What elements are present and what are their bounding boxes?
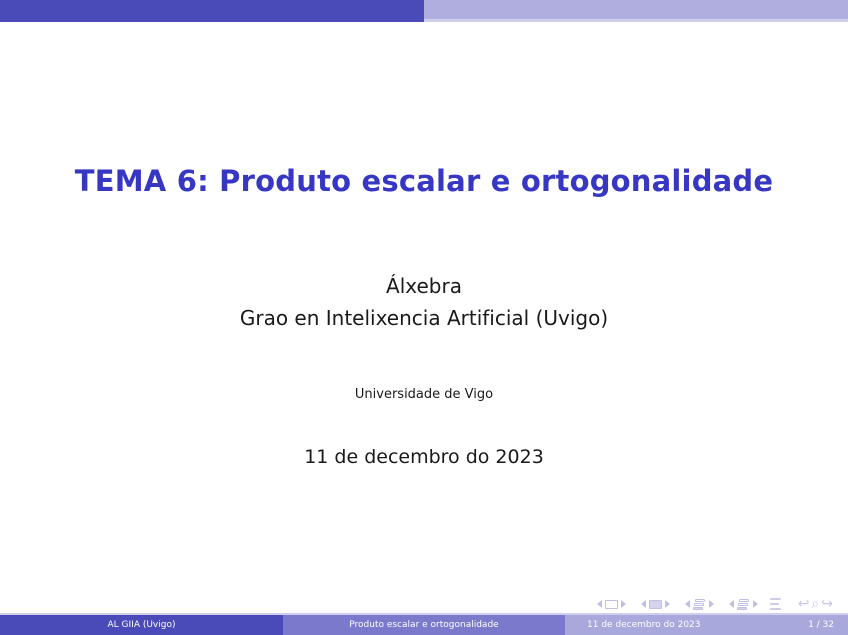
navigation-symbols[interactable]: ↩ ⌕ ↪ [594,596,834,612]
search-nav-icon[interactable]: ⌕ [811,597,819,611]
author-line-degree: Grao en Intelixencia Artificial (Uvigo) [0,302,848,334]
frame-nav-group[interactable] [638,600,673,609]
subsection-nav-icon[interactable] [693,599,706,610]
footline-date: 11 de decembro do 2023 [587,620,701,630]
author-block: Álxebra Grao en Intelixencia Artificial … [0,270,848,334]
previous-slide-icon[interactable] [597,600,602,608]
forward-nav-icon[interactable]: ↪ [821,597,833,611]
section-nav-group[interactable] [726,599,761,610]
previous-subsection-icon[interactable] [685,600,690,608]
page-title: TEMA 6: Produto escalar e ortogonalidade [0,164,848,198]
subsection-nav-group[interactable] [682,599,717,610]
section-nav-icon[interactable] [737,599,750,610]
head-bar [0,0,848,19]
head-bar-right-segment [424,0,848,19]
document-nav-icon[interactable] [770,598,781,611]
page-number: 1 / 32 [808,620,834,630]
next-slide-icon[interactable] [621,600,626,608]
frame-nav-icon[interactable] [649,600,662,609]
title-page: TEMA 6: Produto escalar e ortogonalidade… [0,22,848,587]
date-line: 11 de decembro do 2023 [0,446,848,468]
previous-section-icon[interactable] [729,600,734,608]
footline-author: AL GIIA (Uvigo) [0,615,283,635]
previous-frame-icon[interactable] [641,600,646,608]
slide-nav-group[interactable] [594,600,629,609]
footline-date-segment: 11 de decembro do 2023 1 / 32 [565,615,848,635]
institute-line: Universidade de Vigo [0,387,848,402]
beamer-slide: TEMA 6: Produto escalar e ortogonalidade… [0,0,848,635]
slide-nav-icon[interactable] [605,600,618,609]
author-line-subject: Álxebra [0,270,848,302]
next-section-icon[interactable] [753,600,758,608]
next-subsection-icon[interactable] [709,600,714,608]
footline: AL GIIA (Uvigo) Produto escalar e ortogo… [0,615,848,635]
head-bar-left-segment [0,0,424,19]
next-frame-icon[interactable] [665,600,670,608]
footline-title: Produto escalar e ortogonalidade [283,615,565,635]
back-nav-icon[interactable]: ↩ [798,597,810,611]
